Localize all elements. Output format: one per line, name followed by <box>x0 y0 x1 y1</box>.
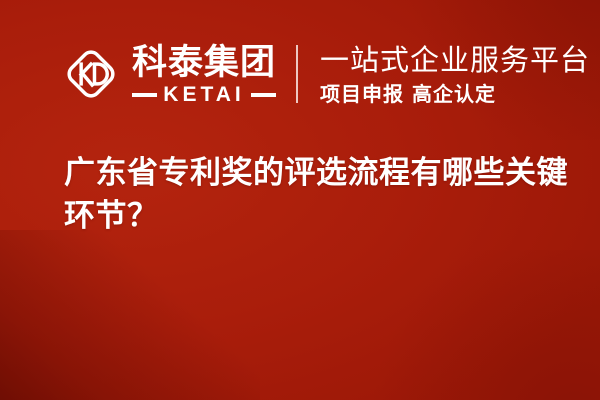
wordmark-rule-right <box>251 93 276 97</box>
company-name-en-row: KETAI <box>132 84 276 106</box>
tagline-secondary: 项目申报 高企认定 <box>320 82 590 106</box>
brand-lockup[interactable]: 科泰集团 KETAI <box>62 43 276 106</box>
page-title: 广东省专利奖的评选流程有哪些关键环节？ <box>64 152 568 238</box>
company-name-cn: 科泰集团 <box>132 44 276 82</box>
tagline-primary: 一站式企业服务平台 <box>320 43 590 77</box>
wordmark-rule-left <box>132 93 157 97</box>
corner-shade-bottom-left <box>0 230 260 400</box>
corner-shade-bottom-right <box>350 250 600 400</box>
header-divider <box>296 45 298 103</box>
ketai-diamond-monogram-logo <box>62 45 120 103</box>
company-name-en: KETAI <box>163 84 244 106</box>
tagline-group: 一站式企业服务平台 项目申报 高企认定 <box>320 43 590 106</box>
promo-banner: 科泰集团 KETAI 一站式企业服务平台 项目申报 高企认定 广东省专利奖的评选… <box>0 0 600 400</box>
banner-header: 科泰集团 KETAI 一站式企业服务平台 项目申报 高企认定 <box>0 0 600 148</box>
brand-wordmark: 科泰集团 KETAI <box>132 43 276 106</box>
